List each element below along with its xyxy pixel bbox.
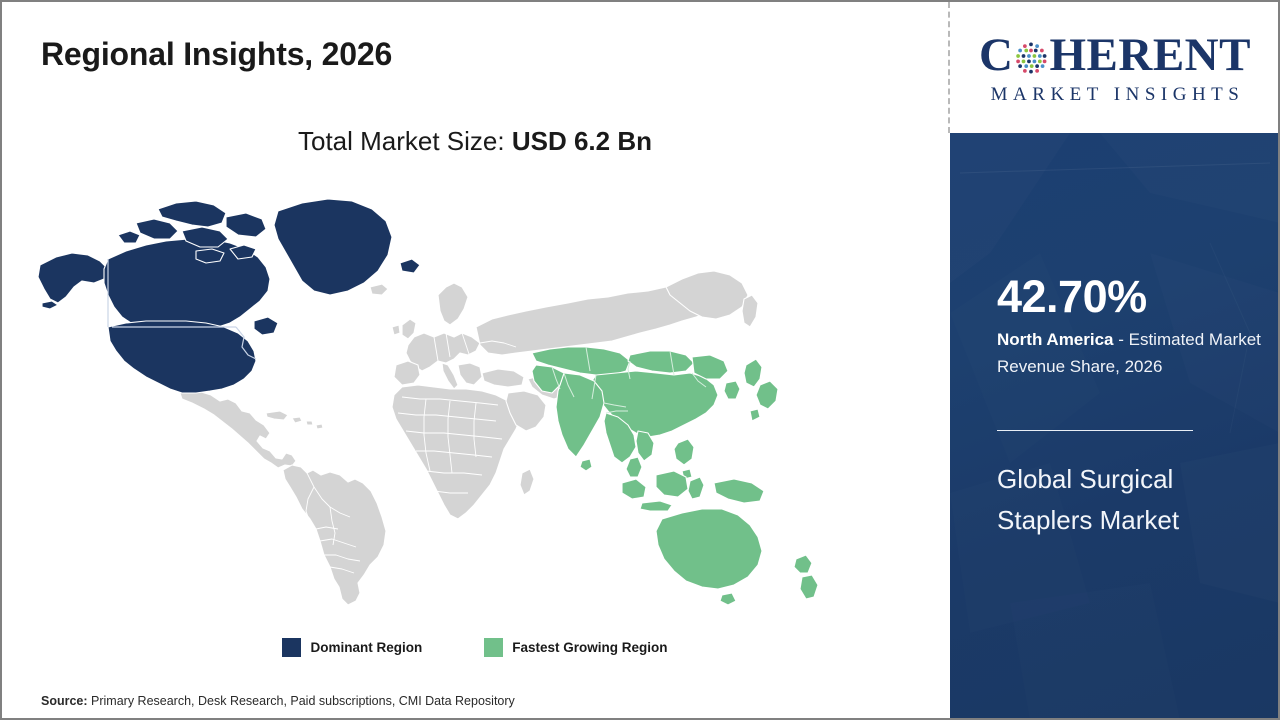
world-map-container: [30, 187, 830, 617]
square-swatch-icon: [484, 638, 503, 657]
stat-region-name: North America: [997, 330, 1114, 349]
logo-tagline: MARKET INSIGHTS: [986, 84, 1245, 106]
stat-description: North America - Estimated Market Revenue…: [997, 327, 1261, 381]
world-map-svg: [30, 187, 830, 617]
market-size-value: USD 6.2 Bn: [512, 126, 652, 156]
logo-letters-herent: HERENT: [1049, 32, 1251, 79]
market-size-label: Total Market Size:: [298, 126, 512, 156]
source-label: Source:: [41, 694, 88, 708]
panel-divider-rule: [997, 430, 1193, 431]
main-content-area: Regional Insights, 2026 Total Market Siz…: [2, 2, 948, 718]
map-region-north-america: [38, 199, 420, 393]
stat-panel: 42.70% North America - Estimated Market …: [950, 133, 1280, 720]
legend-label-dominant: Dominant Region: [310, 640, 422, 655]
page-title: Regional Insights, 2026: [41, 36, 392, 73]
source-footer: Source: Primary Research, Desk Research,…: [41, 694, 515, 708]
map-region-asia-pacific: [532, 347, 818, 605]
brand-logo: C: [950, 2, 1280, 133]
square-swatch-icon: [282, 638, 301, 657]
market-title: Global Surgical Staplers Market: [997, 459, 1249, 541]
stat-value: 42.70%: [997, 274, 1147, 319]
logo-wordmark: C: [979, 30, 1251, 82]
legend-label-fastest-growing: Fastest Growing Region: [512, 640, 667, 655]
total-market-size: Total Market Size: USD 6.2 Bn: [2, 126, 948, 157]
dot-sphere-icon: [1014, 41, 1048, 75]
source-text: Primary Research, Desk Research, Paid su…: [88, 694, 515, 708]
legend-item-dominant: Dominant Region: [282, 638, 422, 657]
legend-item-fastest-growing: Fastest Growing Region: [484, 638, 667, 657]
slide-canvas: Regional Insights, 2026 Total Market Siz…: [0, 0, 1280, 720]
stat-panel-content: 42.70% North America - Estimated Market …: [997, 133, 1263, 720]
logo-letter-c: C: [979, 32, 1013, 79]
map-legend: Dominant Region Fastest Growing Region: [2, 638, 948, 657]
